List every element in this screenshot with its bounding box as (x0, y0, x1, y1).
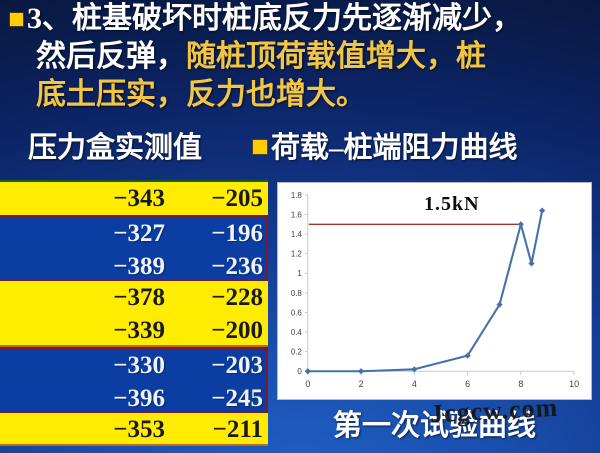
table-cell-col1: −339 (60, 314, 165, 347)
table-cell-col2: −228 (175, 281, 263, 314)
table-cell-col1: −327 (60, 217, 165, 250)
y-tick-label: 0.2 (291, 348, 302, 357)
threshold-annotation-label: 1.5kN (424, 193, 480, 216)
subheading-row: 压力盒实测值 荷载–桩端阻力曲线 (0, 126, 600, 170)
y-tick-label: 1.6 (291, 210, 303, 219)
data-point-marker (358, 368, 364, 374)
table-cell-col2: −245 (175, 382, 263, 415)
table-band: −343−205 (0, 182, 268, 215)
table-row: −378−228 (0, 281, 268, 314)
table-cell-col2: −236 (175, 250, 263, 283)
x-tick-label: 0 (305, 379, 310, 389)
table-cell-col1: −396 (60, 382, 165, 415)
table-row: −330−203 (0, 349, 266, 382)
y-tick-label: 1.2 (291, 250, 302, 259)
table-cell-col1: −353 (60, 413, 165, 446)
table-band: −378−228−339−200 (0, 281, 268, 347)
yellow-square-bullet-icon-2 (253, 140, 267, 154)
table-row: −343−205 (0, 182, 268, 215)
table-row: −389−236 (0, 250, 266, 283)
title-line-3: 底土压实，反力也增大。 (8, 76, 594, 114)
measurement-table: −343−205−327−196−389−236−378−228−339−200… (0, 180, 268, 453)
subheading-pressure-cell: 压力盒实测值 (28, 126, 202, 170)
title-line-2-text: 然后反弹， (36, 40, 186, 73)
table-cell-col2: −203 (175, 349, 263, 382)
load-tip-resistance-chart: 00.20.40.60.811.21.41.61.80246810 1.5kN (277, 182, 592, 400)
table-cell-col2: −196 (175, 217, 263, 250)
title-line-1-text: 3、桩基破坏时桩底反力先逐渐减少， (27, 2, 522, 35)
table-cell-col1: −343 (60, 182, 165, 215)
page-title: 3、桩基破坏时桩底反力先逐渐减少， 然后反弹，随桩顶荷载值增大，桩 底土压实，反… (8, 0, 594, 114)
title-line-2-highlight: 随桩顶荷载值增大，桩 (186, 40, 486, 73)
title-line-2: 然后反弹，随桩顶荷载值增大，桩 (8, 38, 594, 76)
table-row: −353−211 (0, 413, 268, 446)
y-tick-label: 0 (297, 367, 302, 376)
data-point-marker (518, 221, 524, 227)
table-row: −339−200 (0, 314, 268, 347)
y-tick-label: 0.4 (291, 328, 303, 337)
table-cell-col1: −378 (60, 281, 165, 314)
y-tick-label: 0.6 (291, 308, 303, 317)
y-tick-label: 1 (297, 269, 302, 278)
table-cell-col2: −211 (175, 413, 263, 446)
table-cell-col1: −330 (60, 349, 165, 382)
table-band: −327−196−389−236 (0, 215, 268, 281)
table-row: −327−196 (0, 217, 266, 250)
subheading-chart: 荷载–桩端阻力曲线 (253, 126, 518, 170)
subheading-chart-text: 荷载–桩端阻力曲线 (271, 132, 518, 164)
table-band: −353−211 (0, 413, 268, 446)
x-tick-label: 6 (465, 379, 470, 389)
y-tick-label: 0.8 (291, 289, 303, 298)
table-row: −396−245 (0, 382, 266, 415)
y-tick-label: 1.8 (291, 191, 303, 200)
table-band: −330−203−396−245 (0, 347, 268, 413)
y-tick-label: 1.4 (291, 230, 303, 239)
x-tick-label: 8 (518, 379, 523, 389)
table-cell-col1: −389 (60, 250, 165, 283)
x-tick-label: 2 (359, 379, 364, 389)
slide-canvas: 3、桩基破坏时桩底反力先逐渐减少， 然后反弹，随桩顶荷载值增大，桩 底土压实，反… (0, 0, 600, 453)
x-tick-label: 4 (412, 379, 417, 389)
x-tick-label: 10 (569, 379, 579, 389)
data-point-marker (528, 260, 534, 266)
title-line-1: 3、桩基破坏时桩底反力先逐渐减少， (8, 0, 594, 38)
table-cell-col2: −200 (175, 314, 263, 347)
data-series-line (308, 211, 542, 372)
table-cell-col2: −205 (175, 182, 263, 215)
yellow-square-bullet-icon (10, 13, 23, 26)
data-point-marker (539, 207, 545, 213)
data-point-marker (305, 368, 311, 374)
